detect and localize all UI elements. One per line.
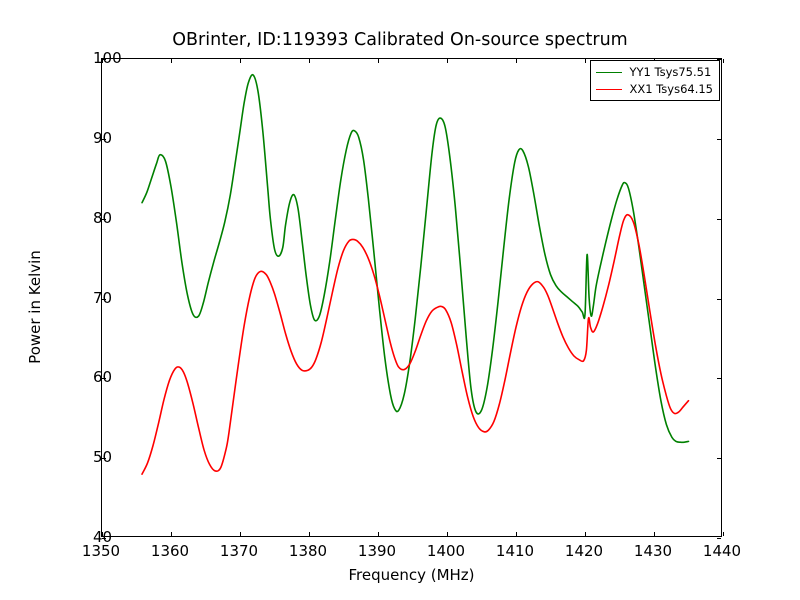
x-tick-top bbox=[309, 59, 310, 63]
x-tick bbox=[447, 532, 448, 536]
y-tick-right bbox=[717, 139, 721, 140]
x-tick bbox=[516, 532, 517, 536]
legend-swatch-yy1 bbox=[596, 72, 622, 73]
y-tick-right bbox=[717, 378, 721, 379]
x-tick-top bbox=[585, 59, 586, 63]
x-tick-label: 1420 bbox=[565, 542, 603, 560]
series-line-yy1 bbox=[142, 75, 688, 443]
x-tick-top bbox=[240, 59, 241, 63]
y-tick-right bbox=[717, 458, 721, 459]
legend-label-yy1: YY1 Tsys75.51 bbox=[629, 65, 711, 79]
y-tick-right bbox=[717, 538, 721, 539]
x-tick bbox=[309, 532, 310, 536]
spectrum-plot bbox=[102, 59, 723, 538]
x-tick bbox=[171, 532, 172, 536]
x-tick-label: 1410 bbox=[496, 542, 534, 560]
y-tick-right bbox=[717, 299, 721, 300]
x-axis-label: Frequency (MHz) bbox=[101, 566, 722, 584]
legend-item-yy1: YY1 Tsys75.51 bbox=[596, 65, 713, 79]
x-tick-label: 1380 bbox=[289, 542, 327, 560]
plot-axes: YY1 Tsys75.51 XX1 Tsys64.15 bbox=[101, 58, 722, 537]
legend-item-xx1: XX1 Tsys64.15 bbox=[596, 82, 713, 96]
legend-swatch-xx1 bbox=[596, 89, 622, 90]
legend-label-xx1: XX1 Tsys64.15 bbox=[629, 82, 713, 96]
x-tick-label: 1370 bbox=[220, 542, 258, 560]
x-tick-top bbox=[723, 59, 724, 63]
chart-title: OBrinter, ID:119393 Calibrated On-source… bbox=[0, 30, 800, 50]
x-tick bbox=[723, 532, 724, 536]
y-axis-label: Power in Kelvin bbox=[26, 207, 44, 407]
x-tick bbox=[240, 532, 241, 536]
x-tick-label: 1360 bbox=[151, 542, 189, 560]
x-tick-label: 1390 bbox=[358, 542, 396, 560]
x-tick-label: 1440 bbox=[703, 542, 741, 560]
y-tick-right bbox=[717, 219, 721, 220]
x-tick bbox=[378, 532, 379, 536]
x-tick-top bbox=[516, 59, 517, 63]
figure-canvas: OBrinter, ID:119393 Calibrated On-source… bbox=[0, 0, 800, 600]
x-tick-top bbox=[447, 59, 448, 63]
x-tick bbox=[585, 532, 586, 536]
x-tick bbox=[654, 532, 655, 536]
x-tick-label: 1400 bbox=[427, 542, 465, 560]
x-tick-top bbox=[378, 59, 379, 63]
chart-legend: YY1 Tsys75.51 XX1 Tsys64.15 bbox=[590, 60, 720, 101]
series-line-xx1 bbox=[142, 215, 688, 474]
x-tick-top bbox=[171, 59, 172, 63]
x-tick-label: 1430 bbox=[634, 542, 672, 560]
